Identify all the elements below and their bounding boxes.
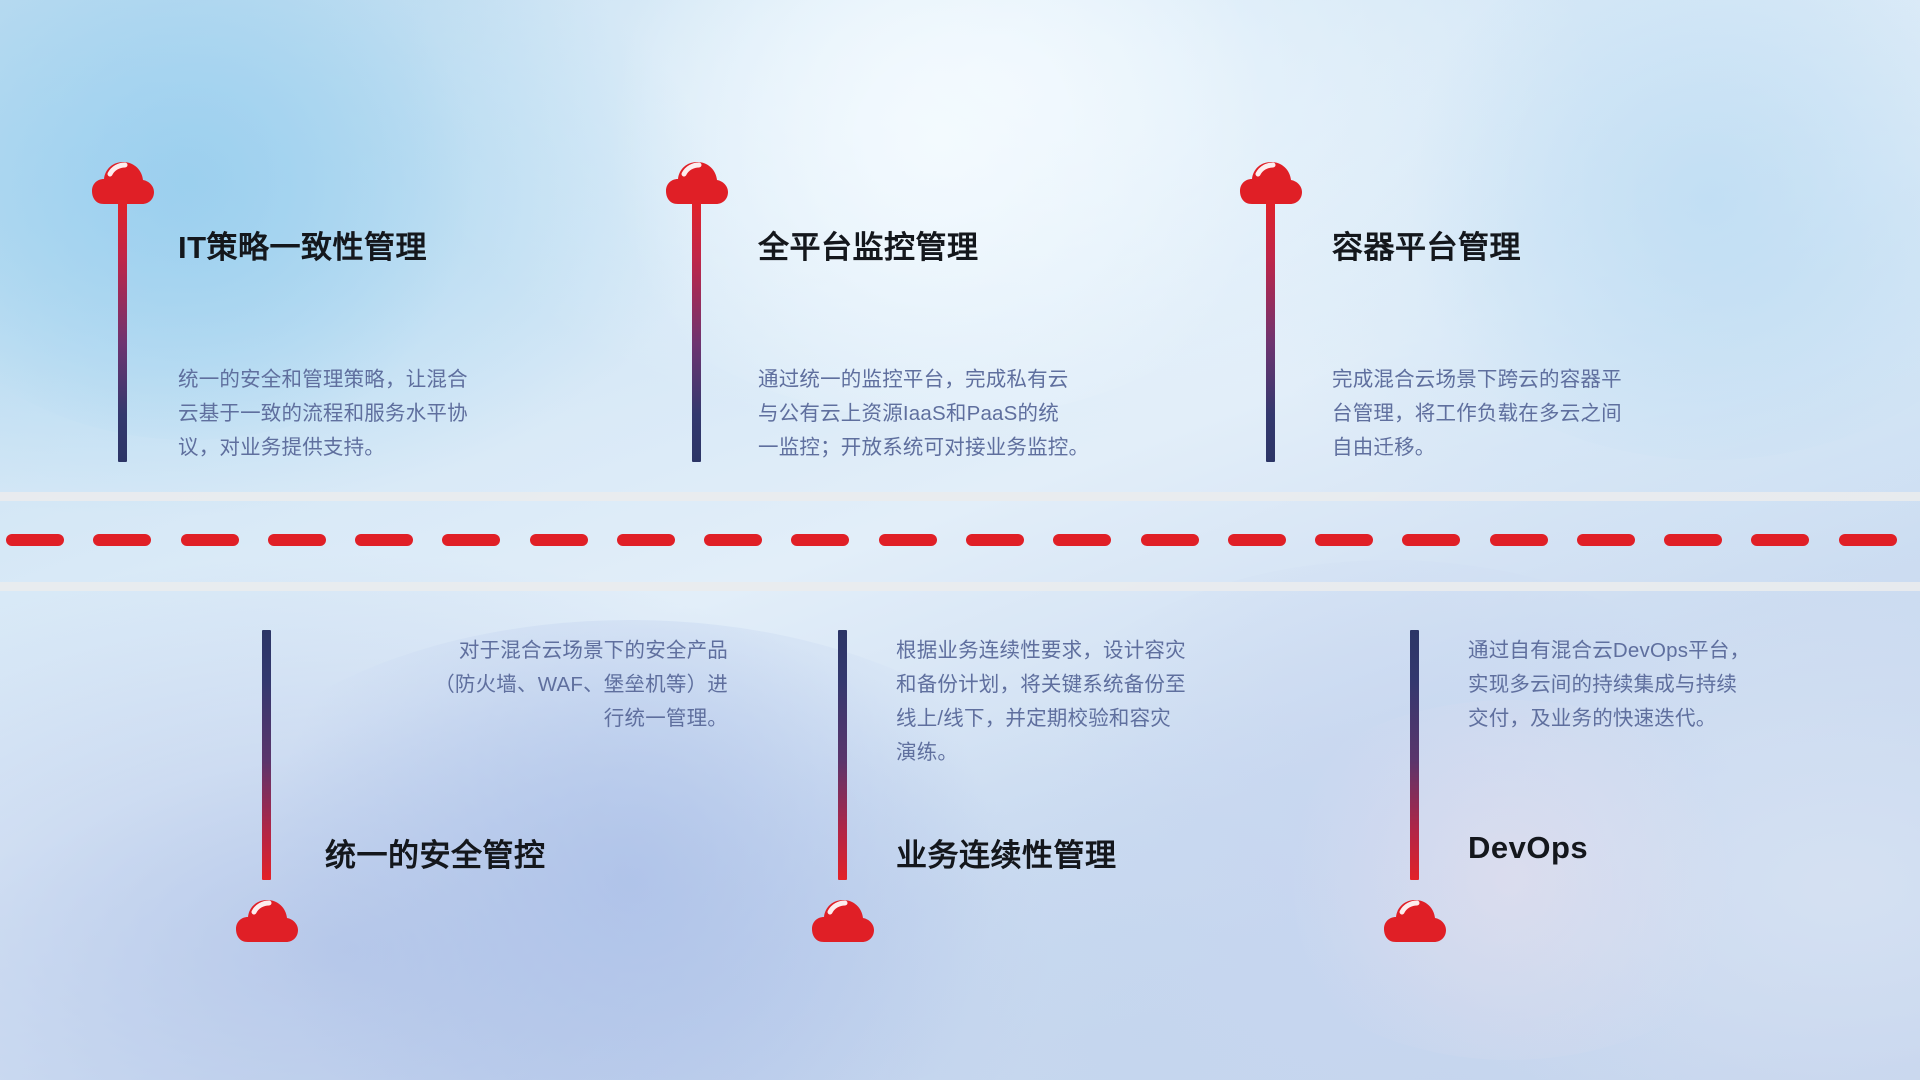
desc-line: 与公有云上资源IaaS和PaaS的统 [758,397,1198,431]
road-dash [1141,534,1199,546]
item-description: 完成混合云场景下跨云的容器平 台管理，将工作负载在多云之间 自由迁移。 [1332,363,1752,465]
road-dash [442,534,500,546]
desc-line: 云基于一致的流程和服务水平协 [178,397,598,431]
road-dash [1228,534,1286,546]
item-description: 根据业务连续性要求，设计容灾 和备份计划，将关键系统备份至 线上/线下，并定期校… [896,634,1328,770]
road-dash [1577,534,1635,546]
road-dash [1490,534,1548,546]
road-dash [617,534,675,546]
road-dash [1402,534,1460,546]
desc-line: 一监控；开放系统可对接业务监控。 [758,431,1198,465]
desc-line: 交付，及业务的快速迭代。 [1468,702,1888,736]
road-dash [355,534,413,546]
background-glow-bottom-right [1250,700,1770,1060]
item-description: 通过自有混合云DevOps平台， 实现多云间的持续集成与持续 交付，及业务的快速… [1468,634,1888,736]
road-dash [879,534,937,546]
item-description: 对于混合云场景下的安全产品 （防火墙、WAF、堡垒机等）进 行统一管理。 [300,634,728,736]
connector-stem [118,200,127,462]
road-dash [93,534,151,546]
connector-stem [262,630,271,880]
item-title: IT策略一致性管理 [178,222,427,267]
background-glow-top-center [560,0,1320,420]
cloud-icon [236,898,298,944]
desc-line: 根据业务连续性要求，设计容灾 [896,634,1328,668]
desc-line: 和备份计划，将关键系统备份至 [896,668,1328,702]
desc-line: 通过统一的监控平台，完成私有云 [758,363,1198,397]
desc-line: 线上/线下，并定期校验和容灾 [896,702,1328,736]
desc-line: 通过自有混合云DevOps平台， [1468,634,1888,668]
road-dash [791,534,849,546]
road-dash [1664,534,1722,546]
desc-line: 演练。 [896,736,1328,770]
road-dash [704,534,762,546]
desc-line: 对于混合云场景下的安全产品 [300,634,728,668]
road-dash [6,534,64,546]
road-edge-line-bottom [0,582,1920,591]
connector-stem [838,630,847,880]
road-edge-line-top [0,492,1920,501]
road-dash [1839,534,1897,546]
item-description: 通过统一的监控平台，完成私有云 与公有云上资源IaaS和PaaS的统 一监控；开… [758,363,1198,465]
desc-line: 自由迁移。 [1332,431,1752,465]
road-dash-track [0,534,1920,546]
item-title: DevOps [1468,830,1588,866]
item-title: 容器平台管理 [1332,222,1521,267]
item-title: 统一的安全管控 [325,830,546,875]
road-dash [1315,534,1373,546]
desc-line: 统一的安全和管理策略，让混合 [178,363,598,397]
connector-stem [692,200,701,462]
desc-line: 实现多云间的持续集成与持续 [1468,668,1888,702]
road-dash [966,534,1024,546]
infographic-canvas: IT策略一致性管理 统一的安全和管理策略，让混合 云基于一致的流程和服务水平协 … [0,0,1920,1080]
desc-line: 完成混合云场景下跨云的容器平 [1332,363,1752,397]
road-dash [181,534,239,546]
desc-line: 议，对业务提供支持。 [178,431,598,465]
road-dash [1053,534,1111,546]
desc-line: 台管理，将工作负载在多云之间 [1332,397,1752,431]
road-dash [530,534,588,546]
cloud-icon [812,898,874,944]
connector-stem [1266,200,1275,462]
road-dash [1751,534,1809,546]
item-title: 全平台监控管理 [758,222,979,267]
item-title: 业务连续性管理 [896,830,1117,875]
connector-stem [1410,630,1419,880]
road-dash [268,534,326,546]
desc-line: （防火墙、WAF、堡垒机等）进 [300,668,728,702]
desc-line: 行统一管理。 [300,702,728,736]
cloud-icon [1384,898,1446,944]
item-description: 统一的安全和管理策略，让混合 云基于一致的流程和服务水平协 议，对业务提供支持。 [178,363,598,465]
